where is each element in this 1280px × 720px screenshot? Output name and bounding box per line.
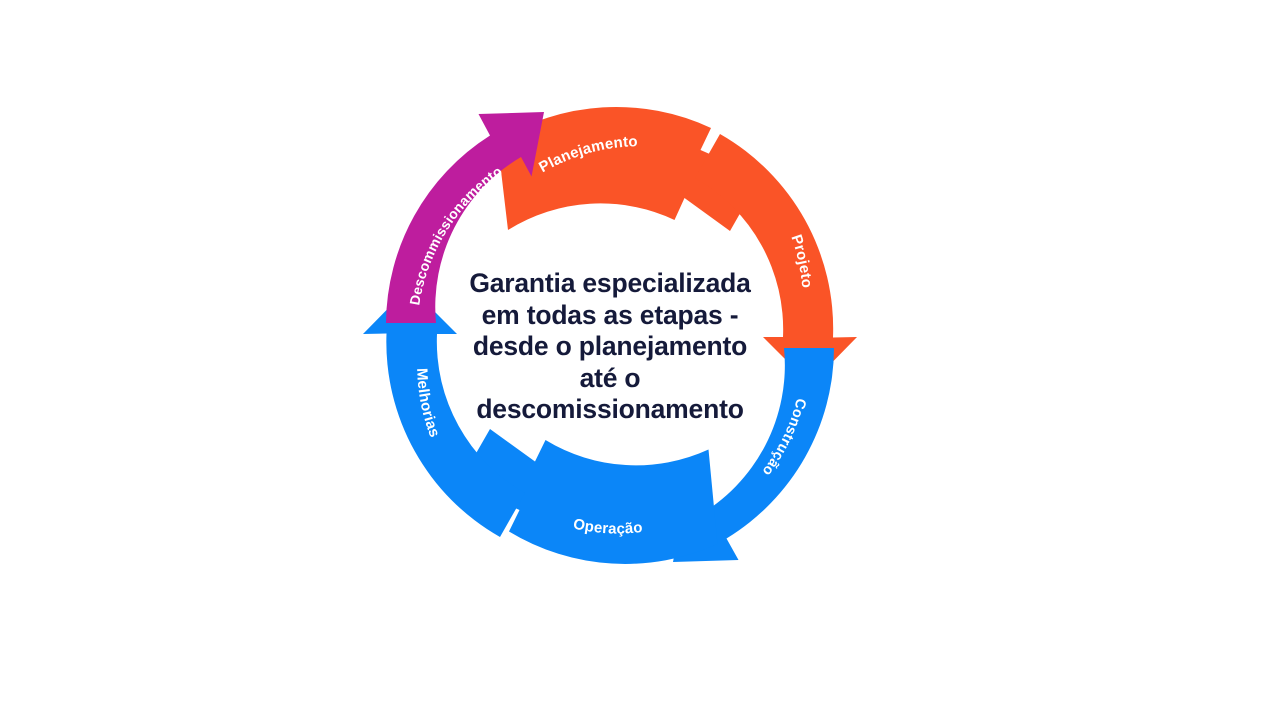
diagram-canvas: Planejamento Projeto Construção Operação <box>0 0 1280 720</box>
center-statement: Garantia especializada em todas as etapa… <box>440 268 780 426</box>
